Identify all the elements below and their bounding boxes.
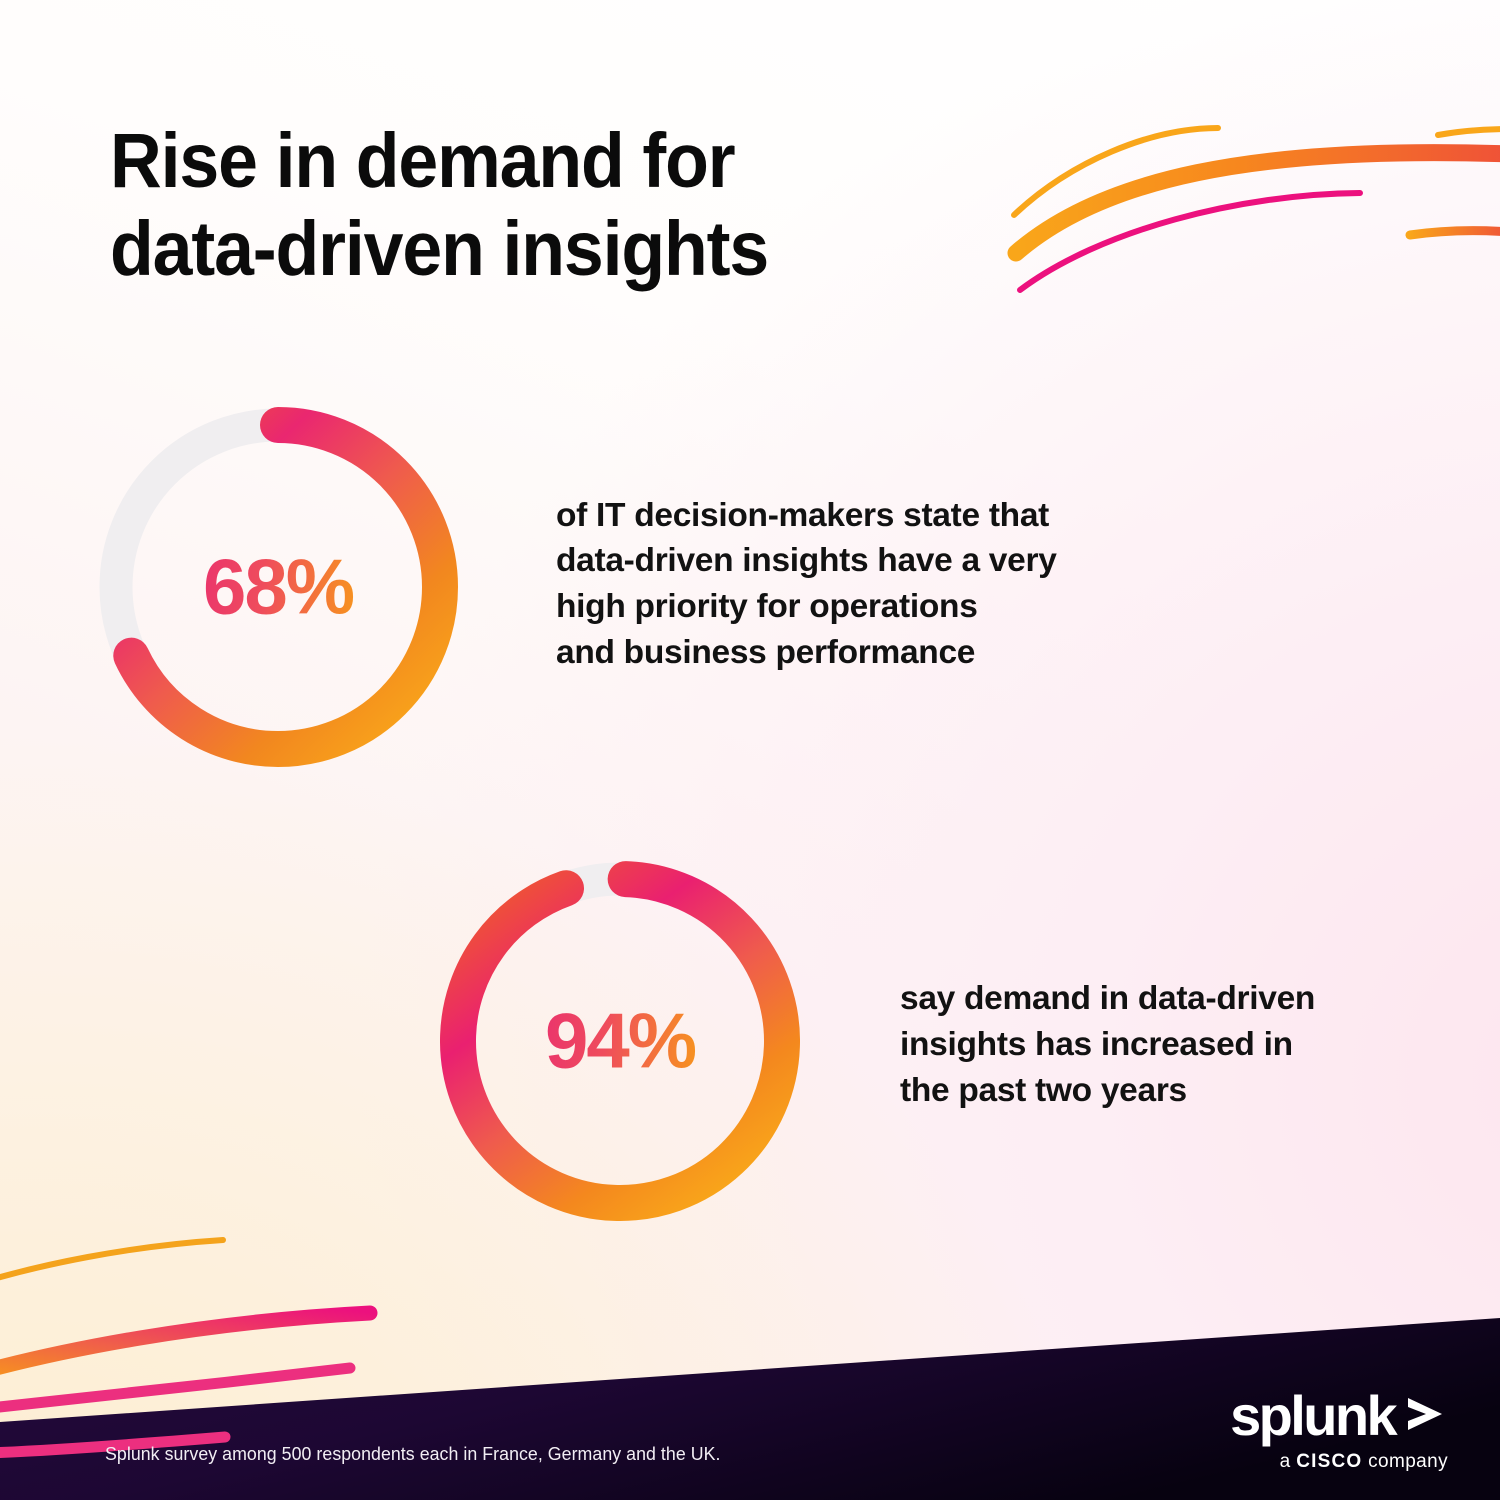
stat-block-94: 94% say demand in data-driven insights h… — [440, 848, 1315, 1238]
stat-caption-68: of IT decision-makers state that data-dr… — [556, 493, 1057, 676]
cisco-company-tagline: a CISCO company — [1230, 1451, 1448, 1473]
chevron-right-icon — [1402, 1394, 1448, 1434]
stat-caption-94: say demand in data-driven insights has i… — [900, 976, 1315, 1113]
donut-value-label-94: 94% — [440, 996, 800, 1087]
page-title: Rise in demand for data-driven insights — [110, 118, 928, 294]
donut-chart-68: 68% — [98, 402, 458, 772]
stat-block-68: 68% of IT decision-makers state that dat… — [98, 402, 1057, 772]
splunk-wordmark: splunk — [1230, 1388, 1395, 1444]
footnote-text: Splunk survey among 500 respondents each… — [105, 1443, 720, 1465]
donut-chart-94: 94% — [440, 848, 800, 1238]
donut-value-label-68: 68% — [98, 542, 458, 633]
infographic-canvas: Rise in demand for data-driven insights — [0, 0, 1500, 1500]
tagline-suffix: company — [1362, 1451, 1448, 1472]
splunk-logo: splunk a CISCO company — [1230, 1388, 1448, 1473]
tagline-prefix: a — [1280, 1451, 1297, 1472]
cisco-wordmark: CISCO — [1296, 1451, 1362, 1472]
